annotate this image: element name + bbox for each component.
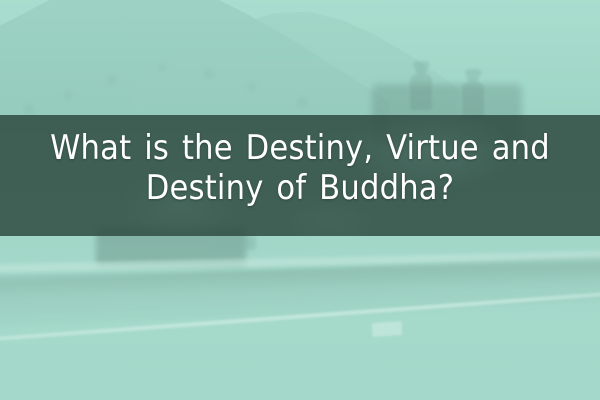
figure-left xyxy=(410,62,434,114)
image-canvas: What is the Destiny, Virtue and Destiny … xyxy=(0,0,600,400)
tree-line xyxy=(0,10,360,120)
roadside-highlight-mass xyxy=(210,236,256,250)
figure-right-cap xyxy=(465,69,482,75)
road-object xyxy=(372,321,403,337)
figure-left-torso xyxy=(410,74,432,110)
figure-right xyxy=(462,70,486,116)
figure-right-torso xyxy=(462,82,484,118)
caption-title: What is the Destiny, Virtue and Destiny … xyxy=(0,128,600,208)
figure-left-cap xyxy=(413,61,430,67)
